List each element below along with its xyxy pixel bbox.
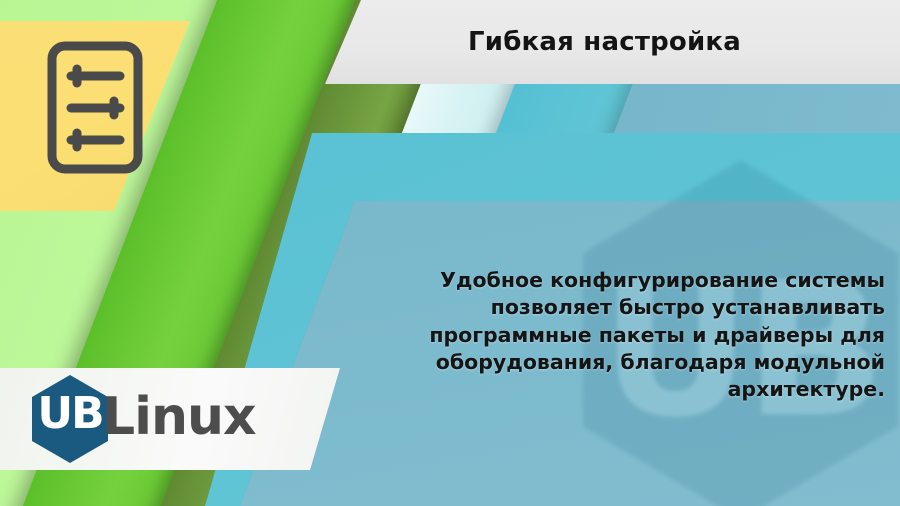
settings-sliders-icon [46, 40, 144, 175]
slide-canvas: UB Гибкая настройка Удобное конфигуриров… [0, 0, 900, 506]
body-paragraph: Удобное конфигурирование системы позволя… [408, 267, 885, 403]
page-title: Гибкая настройка [325, 0, 884, 84]
title-banner: Гибкая настройка [325, 0, 900, 84]
brand-logo: UB Linux [32, 375, 292, 465]
logo-wordmark: Linux [102, 391, 256, 443]
logo-mark-label: UB [32, 392, 108, 436]
ub-hexagon-icon: UB [32, 375, 108, 463]
